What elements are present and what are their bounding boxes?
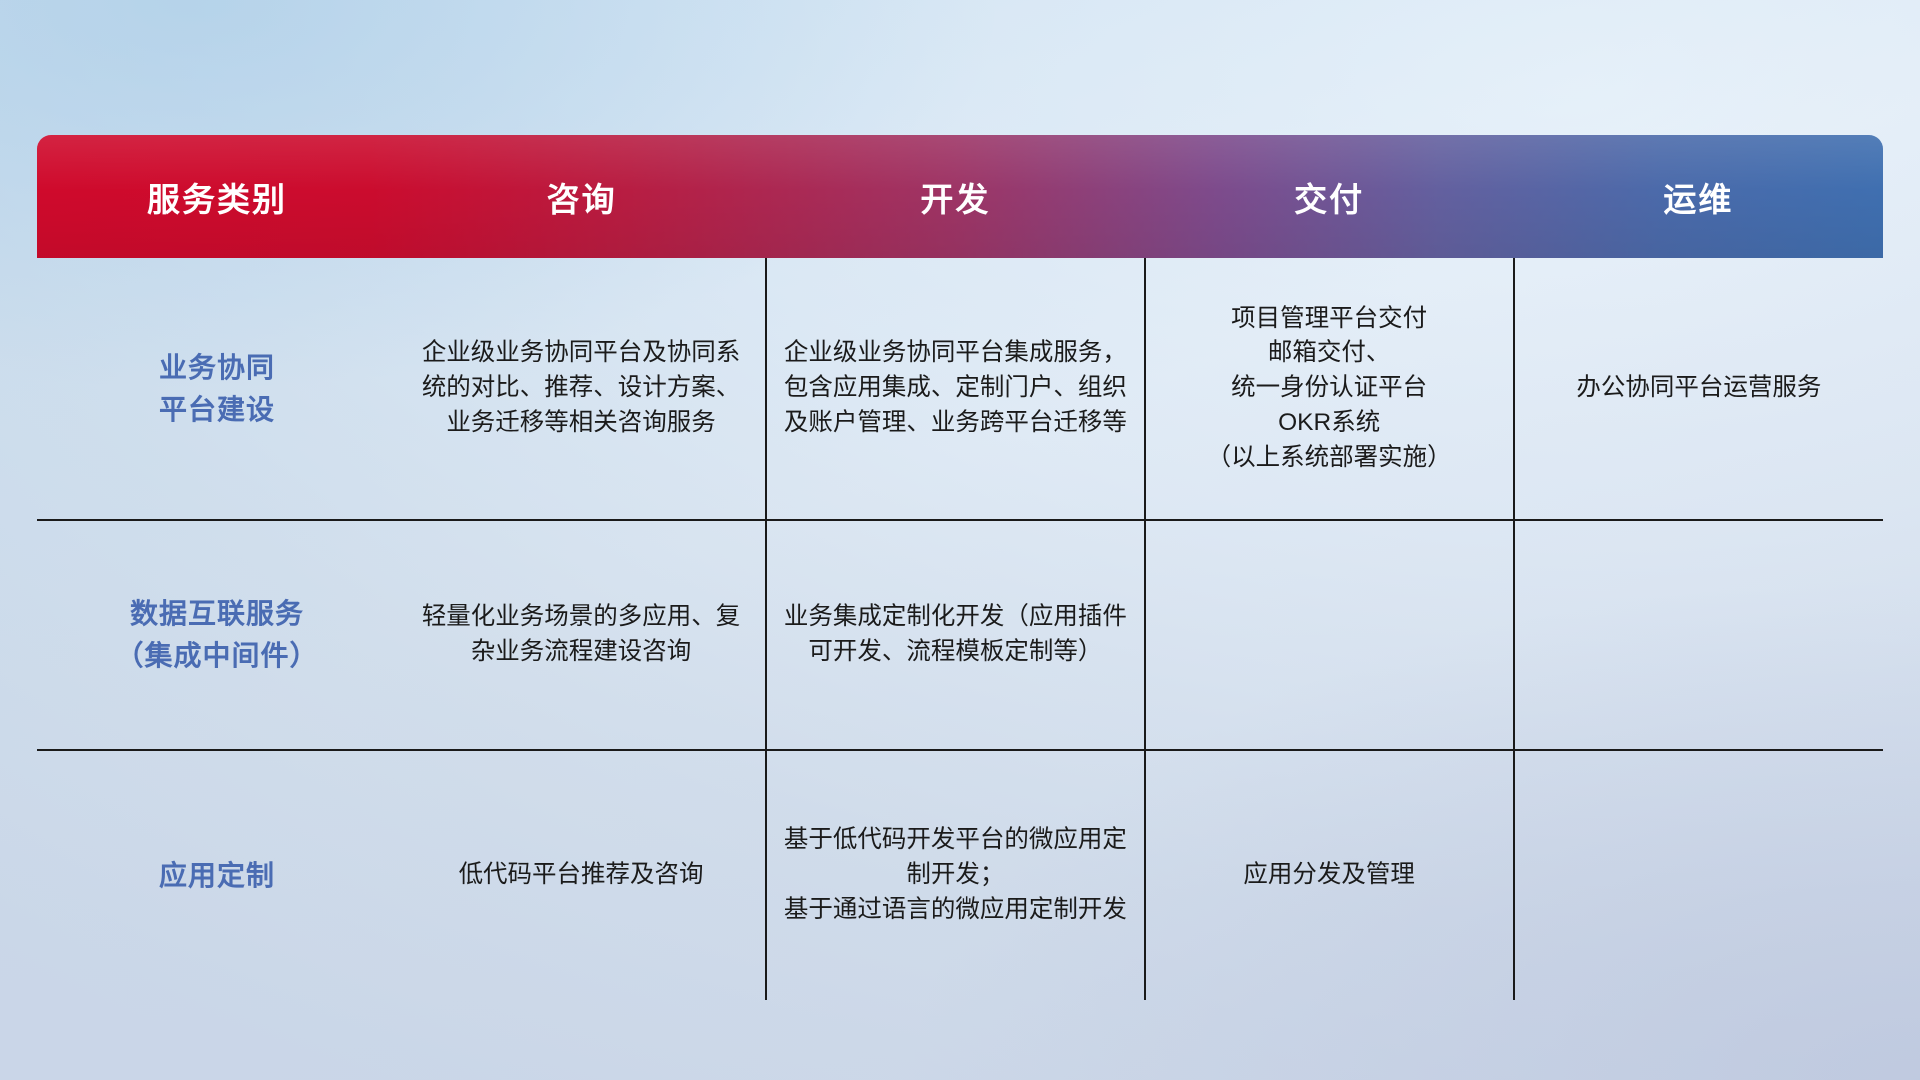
header-label-delivery: 交付 [1294,181,1364,218]
cell-text: 基于低代码开发平台的微应用定 制开发； 基于通过语言的微应用定制开发 [781,823,1129,927]
table-row: 应用定制 低代码平台推荐及咨询 基于低代码开发平台的微应用定 制开发； 基于通过… [37,750,1883,1000]
cell-r2-delivery [1145,520,1514,750]
row-label-text: 数据互联服务 （集成中间件） [51,593,383,677]
row-label-text: 业务协同 平台建设 [51,347,383,431]
row-label-app-customization: 应用定制 [37,750,397,1000]
cell-text: 企业级业务协同平台集成服务， 包含应用集成、定制门户、组织 及账户管理、业务跨平… [781,336,1129,440]
table-row: 业务协同 平台建设 企业级业务协同平台及协同系 统的对比、推荐、设计方案、 业务… [37,258,1883,520]
header-cell-delivery[interactable]: 交付 [1145,135,1514,258]
cell-r3-development: 基于低代码开发平台的微应用定 制开发； 基于通过语言的微应用定制开发 [766,750,1144,1000]
cell-text: 业务集成定制化开发（应用插件 可开发、流程模板定制等） [781,600,1129,670]
header-label-consulting: 咨询 [547,181,617,218]
cell-r2-development: 业务集成定制化开发（应用插件 可开发、流程模板定制等） [766,520,1144,750]
cell-r1-operations: 办公协同平台运营服务 [1514,258,1883,520]
row-label-text: 应用定制 [51,855,383,897]
cell-r1-delivery: 项目管理平台交付 邮箱交付、 统一身份认证平台 OKR系统 （以上系统部署实施） [1145,258,1514,520]
cell-r1-consulting: 企业级业务协同平台及协同系 统的对比、推荐、设计方案、 业务迁移等相关咨询服务 [397,258,766,520]
cell-r3-delivery: 应用分发及管理 [1145,750,1514,1000]
header-cell-operations[interactable]: 运维 [1514,135,1883,258]
cell-r1-development: 企业级业务协同平台集成服务， 包含应用集成、定制门户、组织 及账户管理、业务跨平… [766,258,1144,520]
cell-text: 办公协同平台运营服务 [1529,371,1869,406]
table-body: 业务协同 平台建设 企业级业务协同平台及协同系 统的对比、推荐、设计方案、 业务… [37,258,1883,1000]
header-label-service-category: 服务类别 [147,181,287,218]
row-label-business-collaboration: 业务协同 平台建设 [37,258,397,520]
cell-r2-consulting: 轻量化业务场景的多应用、复 杂业务流程建设咨询 [397,520,766,750]
header-cell-consulting[interactable]: 咨询 [397,135,766,258]
table-header-row-group: 服务类别 咨询 开发 交付 运维 [37,135,1883,258]
cell-r2-operations [1514,520,1883,750]
slide-canvas: 服务类别 咨询 开发 交付 运维 [0,0,1920,1080]
table-row: 数据互联服务 （集成中间件） 轻量化业务场景的多应用、复 杂业务流程建设咨询 业… [37,520,1883,750]
cell-text: 企业级业务协同平台及协同系 统的对比、推荐、设计方案、 业务迁移等相关咨询服务 [411,336,751,440]
service-matrix-table: 服务类别 咨询 开发 交付 运维 [37,135,1883,960]
header-cell-development[interactable]: 开发 [766,135,1144,258]
cell-text: 轻量化业务场景的多应用、复 杂业务流程建设咨询 [411,600,751,670]
cell-text: 项目管理平台交付 邮箱交付、 统一身份认证平台 OKR系统 （以上系统部署实施） [1160,302,1499,476]
header-label-operations: 运维 [1663,181,1733,218]
header-label-development: 开发 [920,181,990,218]
row-label-data-interconnect-service: 数据互联服务 （集成中间件） [37,520,397,750]
cell-r3-operations [1514,750,1883,1000]
cell-text: 应用分发及管理 [1160,858,1499,893]
cell-text: 低代码平台推荐及咨询 [411,858,751,893]
header-cell-service-category[interactable]: 服务类别 [37,135,397,258]
cell-r3-consulting: 低代码平台推荐及咨询 [397,750,766,1000]
table-header-row: 服务类别 咨询 开发 交付 运维 [37,135,1883,258]
